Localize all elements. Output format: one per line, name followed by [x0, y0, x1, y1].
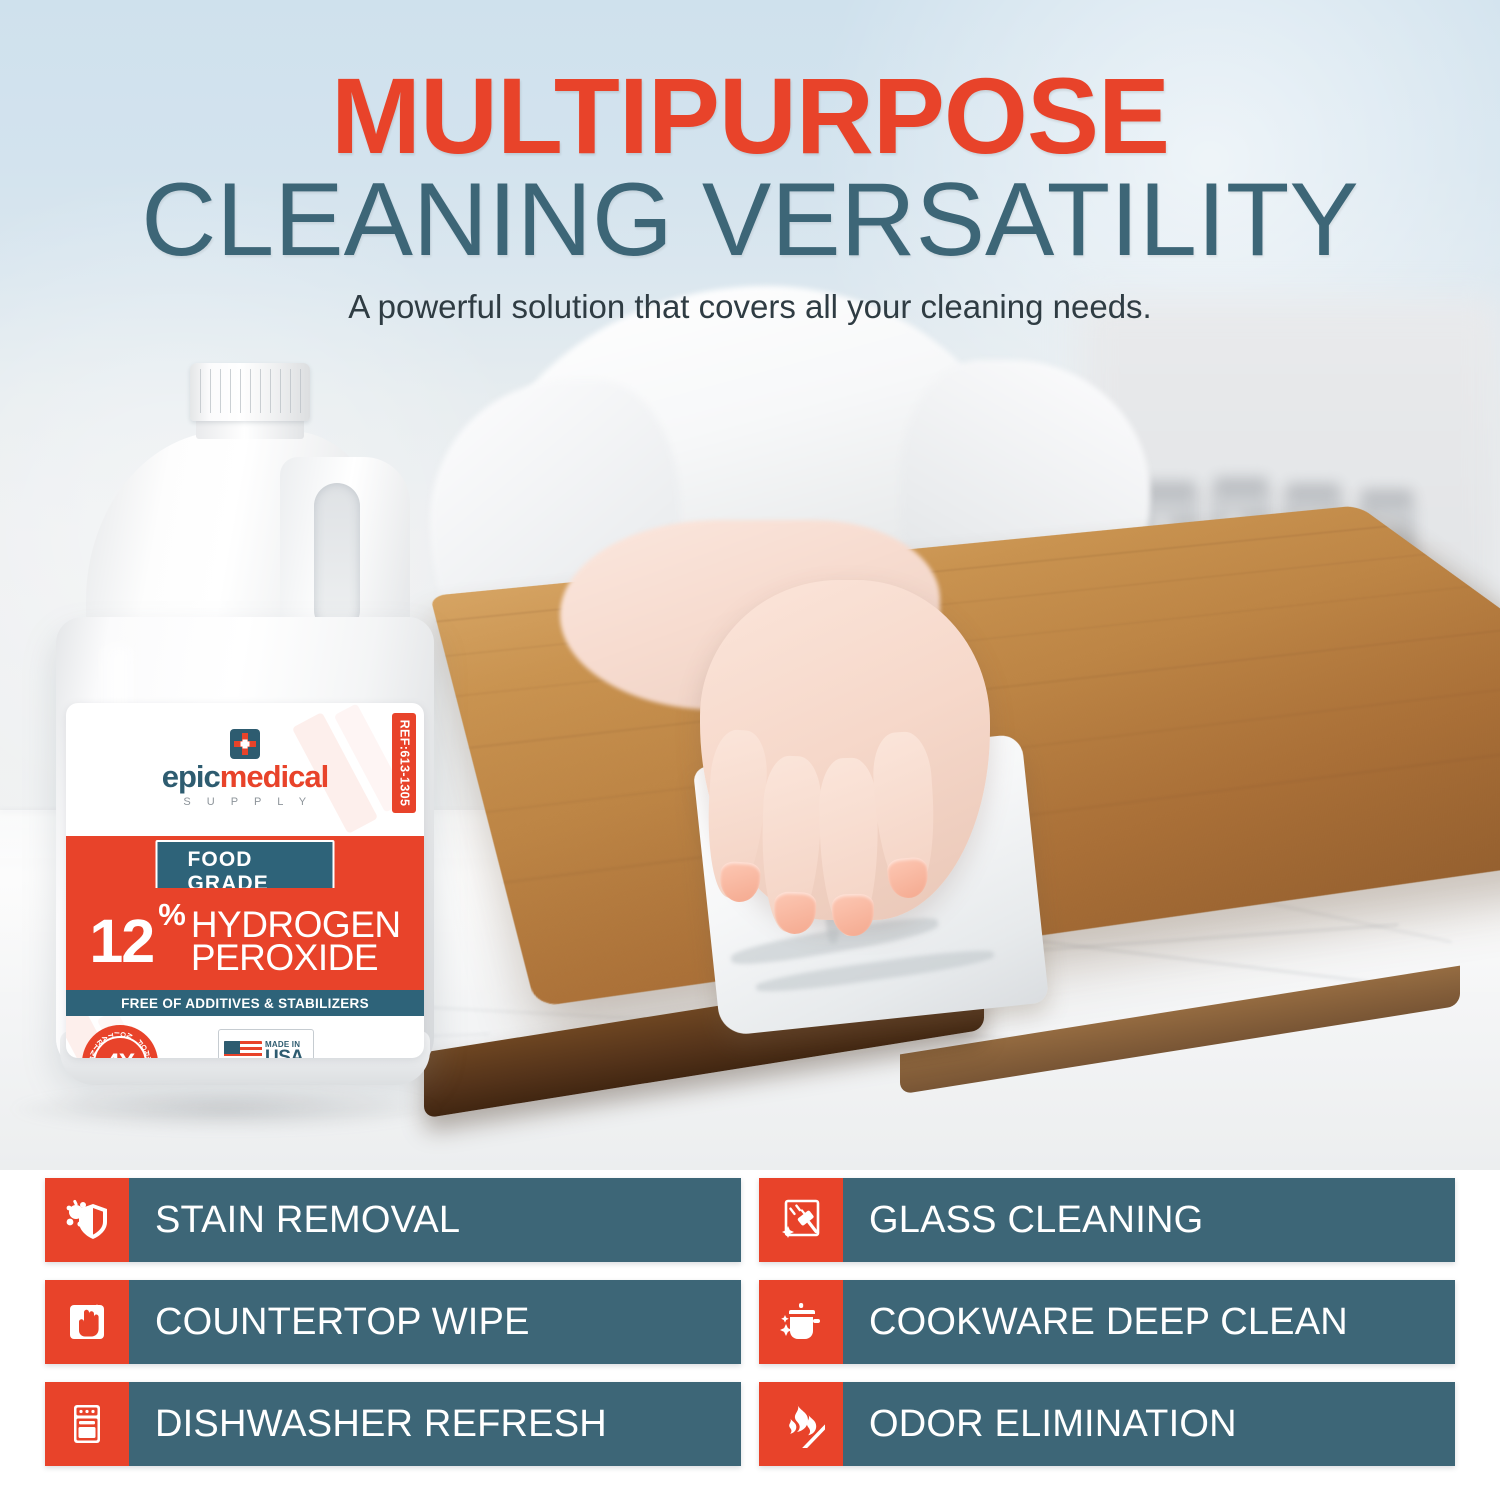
brand-tagline-supply: S U P P L Y: [66, 796, 424, 808]
dishwasher-icon: [45, 1382, 129, 1466]
made-in-usa-badge: MADE IN USA: [218, 1029, 314, 1058]
brand-name-medical: medical: [220, 759, 328, 794]
usa-text: USA: [265, 1049, 304, 1058]
feature-odor-elimination[interactable]: ODOR ELIMINATION: [759, 1382, 1455, 1466]
feature-glass-cleaning[interactable]: GLASS CLEANING: [759, 1178, 1455, 1262]
feature-label: DISHWASHER REFRESH: [129, 1403, 607, 1446]
no-odor-icon: [759, 1382, 843, 1466]
brand-name-epic: epic: [162, 759, 220, 794]
percent-symbol: %: [158, 903, 186, 928]
subheadline: A powerful solution that covers all your…: [0, 288, 1500, 326]
chemical-name-line1: HYDROGEN: [191, 908, 401, 941]
feature-label: ODOR ELIMINATION: [843, 1403, 1237, 1446]
brand-logo: epicmedical S U P P L Y: [66, 729, 424, 808]
chemical-name-line2: PEROXIDE: [191, 941, 401, 974]
feature-cookware-deep-clean[interactable]: COOKWARE DEEP CLEAN: [759, 1280, 1455, 1364]
product-bottle: REF:613-1305 epicmedical S U P P L Y FOO…: [38, 355, 458, 1125]
feature-label: COOKWARE DEEP CLEAN: [843, 1301, 1348, 1344]
concentration-badge: HIGH CONCENTRATION FORMULA ★ 4X: [82, 1025, 158, 1058]
feature-label: STAIN REMOVAL: [129, 1199, 460, 1242]
headline-secondary: CLEANING VERSATILITY: [0, 168, 1500, 272]
product-label: REF:613-1305 epicmedical S U P P L Y FOO…: [66, 703, 424, 1058]
usa-flag-icon: [224, 1041, 262, 1058]
feature-label: COUNTERTOP WIPE: [129, 1301, 530, 1344]
cooking-pot-icon: [759, 1280, 843, 1364]
percent-number: 12: [89, 916, 153, 966]
free-of-text: FREE OF ADDITIVES & STABILIZERS: [121, 996, 369, 1011]
feature-label: GLASS CLEANING: [843, 1199, 1203, 1242]
bottle-cap: [190, 363, 310, 421]
concentration-row: 12 % HYDROGEN PEROXIDE: [66, 891, 424, 991]
feature-countertop-wipe[interactable]: COUNTERTOP WIPE: [45, 1280, 741, 1364]
feature-stain-removal[interactable]: STAIN REMOVAL: [45, 1178, 741, 1262]
hand-wipe-icon: [45, 1280, 129, 1364]
bottle-handle-opening: [314, 483, 360, 633]
person-hand: [700, 580, 990, 920]
squeegee-icon: [759, 1178, 843, 1262]
badge-center-text: 4X: [106, 1049, 135, 1059]
bottle-drop-shadow: [6, 1086, 446, 1132]
stain-shield-icon: [45, 1178, 129, 1262]
headline-primary: MULTIPURPOSE: [0, 62, 1500, 170]
feature-grid: STAIN REMOVAL GLASS CLEANING COUNTERTOP: [45, 1178, 1455, 1466]
free-of-band: FREE OF ADDITIVES & STABILIZERS: [66, 990, 424, 1016]
feature-dishwasher-refresh[interactable]: DISHWASHER REFRESH: [45, 1382, 741, 1466]
medical-cross-icon: [230, 729, 260, 759]
